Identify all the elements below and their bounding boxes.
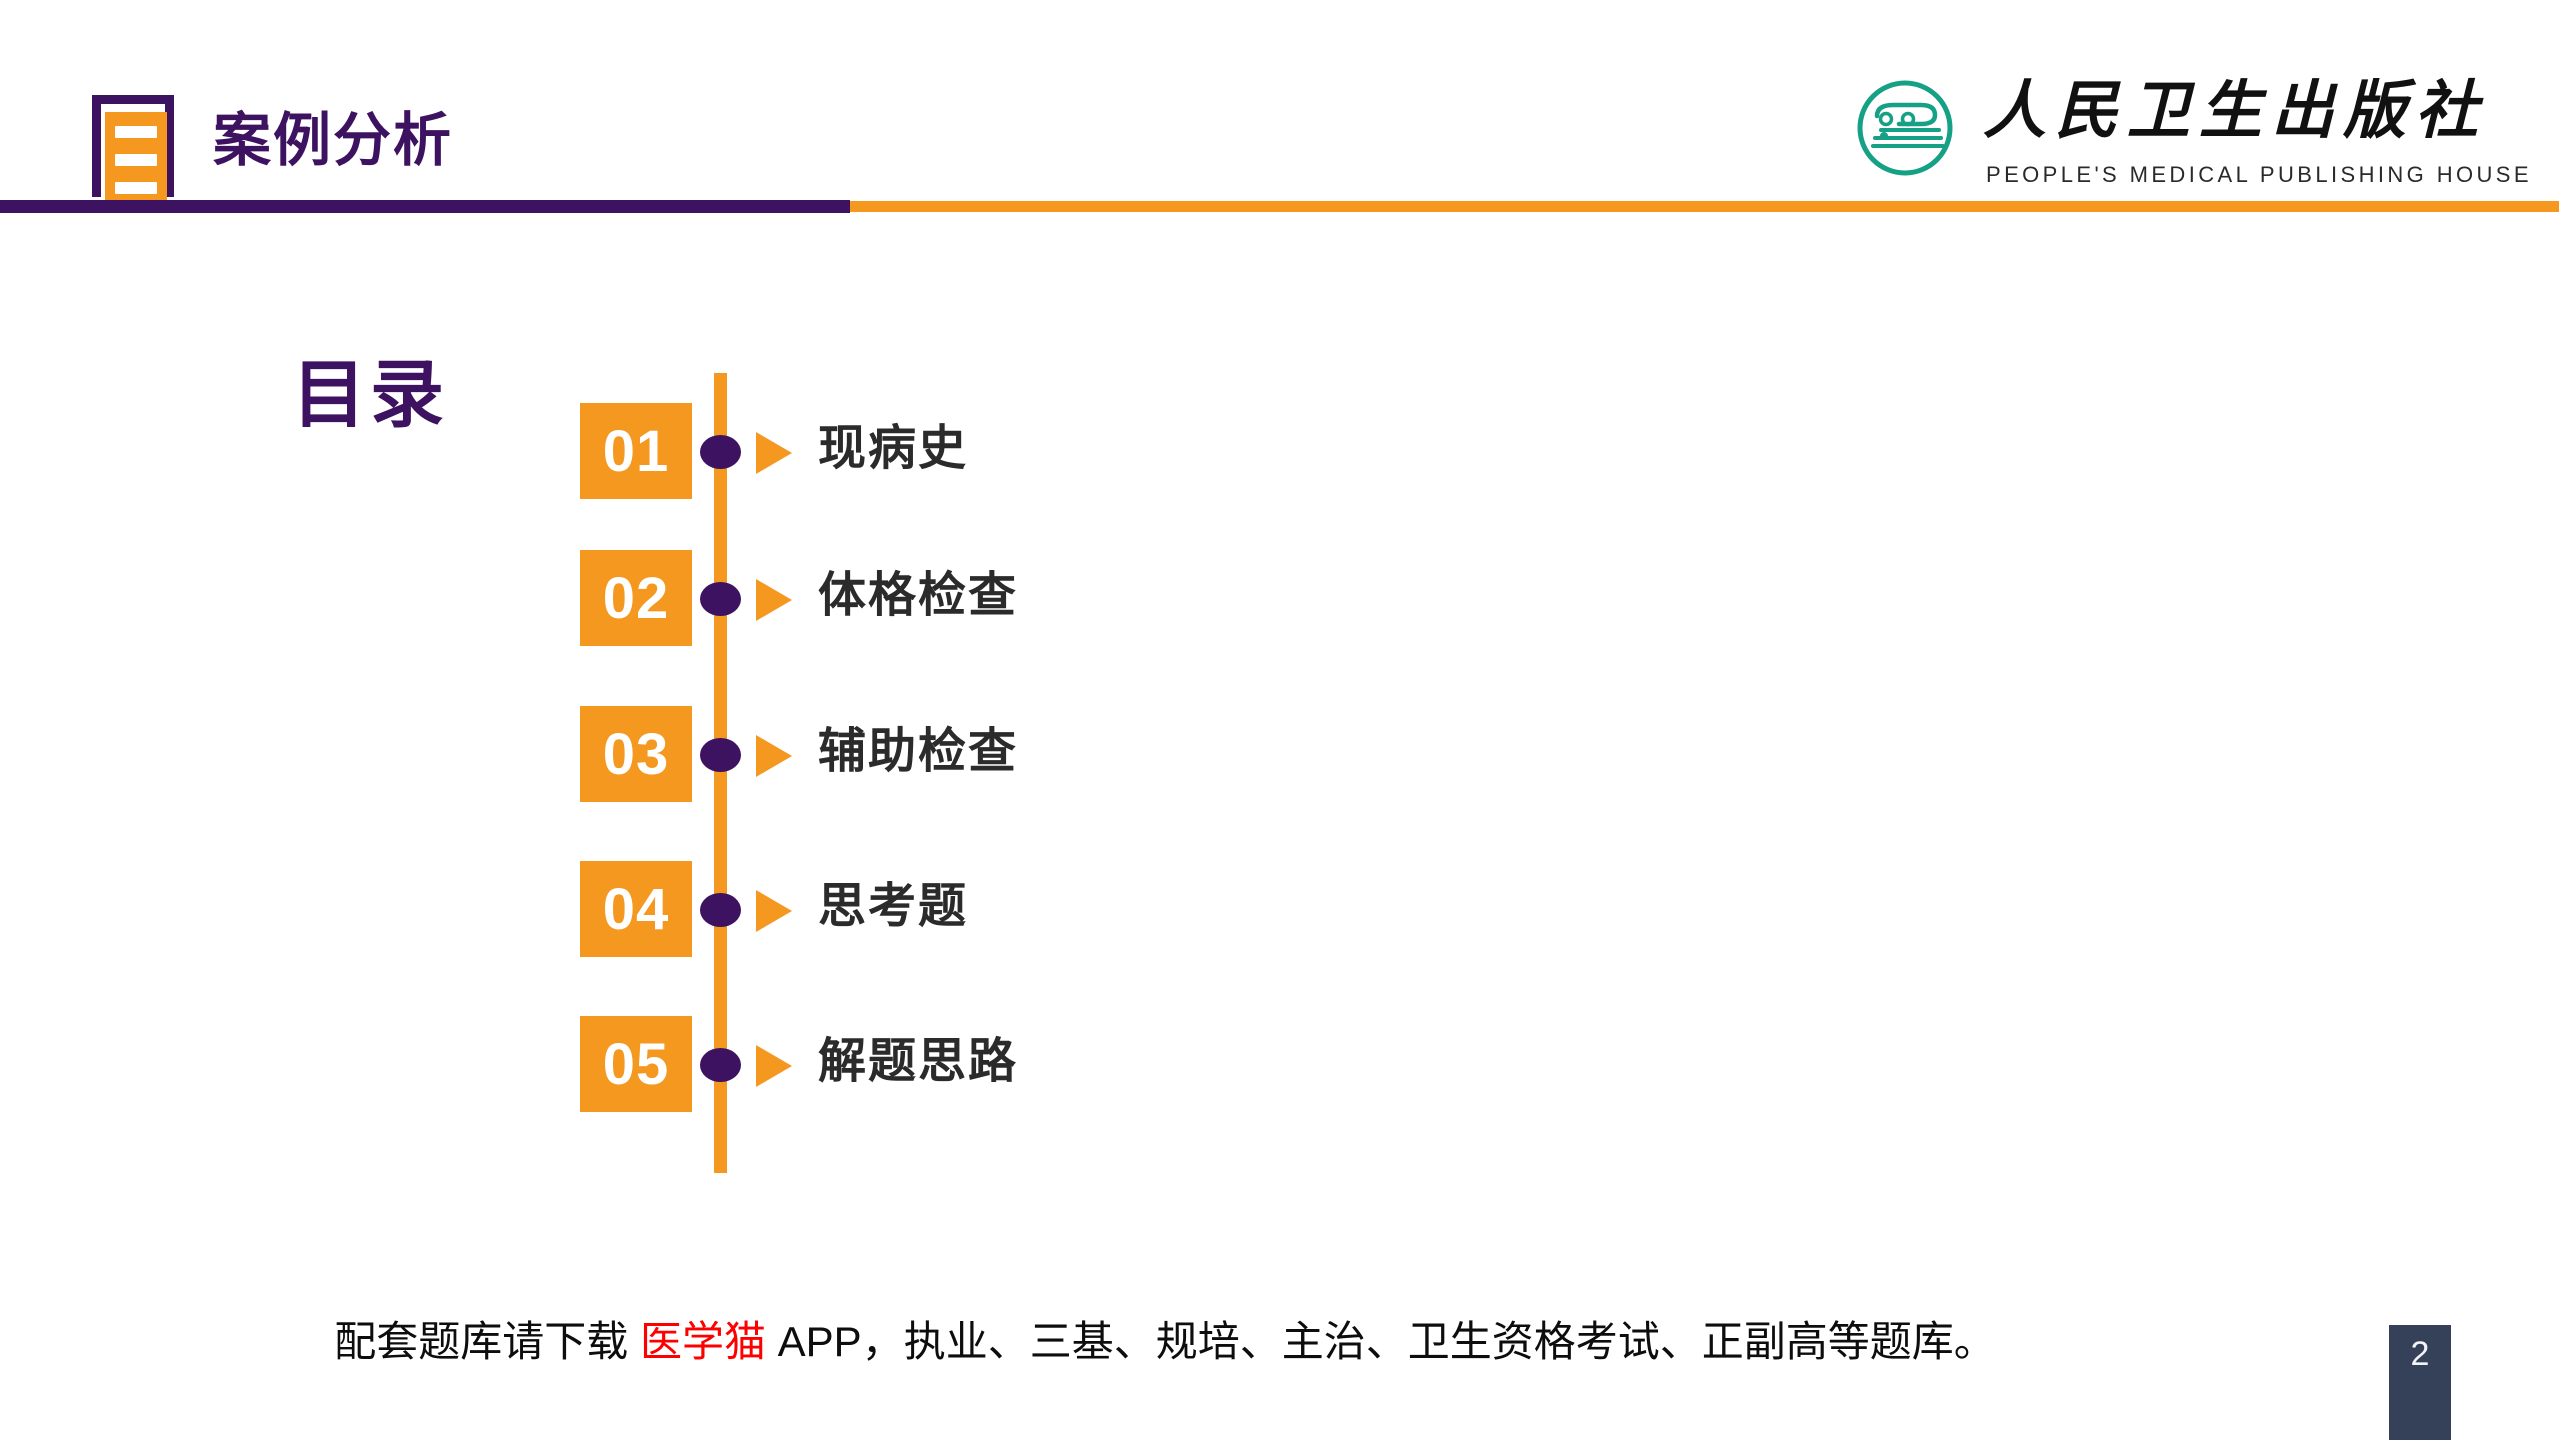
toc-item-label: 解题思路 [818,1032,1018,1092]
toc-item-label: 思考题 [818,877,968,937]
timeline-dot-icon [700,435,741,469]
publisher-name-cn: 人民卫生出版社 [1983,72,2487,151]
footer-note-part2: APP，执业、三基、规培、主治、卫生资格考试、正副高等题库。 [766,1318,1996,1365]
toc-item-02[interactable]: 02 体格检查 [0,550,2559,646]
footer-note-highlight: 医学猫 [640,1318,766,1365]
timeline-dot-icon [700,738,741,772]
triangle-bullet-icon [756,735,792,777]
pmph-wave-emblem-icon [1855,78,1955,178]
toc-number-badge: 03 [580,706,692,802]
page-number: 2 [2389,1337,2451,1371]
toc-item-04[interactable]: 04 思考题 [0,861,2559,957]
toc-item-03[interactable]: 03 辅助检查 [0,706,2559,802]
header-divider-orange [850,201,2559,212]
toc-number-badge: 05 [580,1016,692,1112]
publisher-name-en: PEOPLE'S MEDICAL PUBLISHING HOUSE [1986,162,2532,188]
hamburger-bar-bottom [115,182,157,194]
toc-item-label: 现病史 [818,419,968,479]
header-divider-purple [0,200,850,213]
triangle-bullet-icon [756,432,792,474]
page-number-badge: 2 [2389,1325,2451,1440]
page-title: 案例分析 [213,112,453,170]
hamburger-icon [105,112,167,207]
footer-promo-note: 配套题库请下载 医学猫 APP，执业、三基、规培、主治、卫生资格考试、正副高等题… [0,1315,2330,1370]
timeline-dot-icon [700,1048,741,1082]
toc-number-badge: 01 [580,403,692,499]
timeline-dot-icon [700,893,741,927]
hamburger-bar-top [115,126,157,138]
toc-item-label: 辅助检查 [818,722,1018,782]
triangle-bullet-icon [756,890,792,932]
toc-number-badge: 02 [580,550,692,646]
hamburger-bar-middle [115,154,157,166]
toc-item-01[interactable]: 01 现病史 [0,403,2559,499]
timeline-dot-icon [700,582,741,616]
footer-note-part1: 配套题库请下载 [334,1318,640,1365]
toc-number-badge: 04 [580,861,692,957]
triangle-bullet-icon [756,579,792,621]
toc-item-05[interactable]: 05 解题思路 [0,1016,2559,1112]
toc-item-label: 体格检查 [818,566,1018,626]
slide-header: 案例分析 人民卫生出版社 PEOPLE'S MEDICAL PUBLISHING… [0,0,2559,215]
publisher-logo: 人民卫生出版社 PEOPLE'S MEDICAL PUBLISHING HOUS… [1855,70,2455,195]
triangle-bullet-icon [756,1045,792,1087]
